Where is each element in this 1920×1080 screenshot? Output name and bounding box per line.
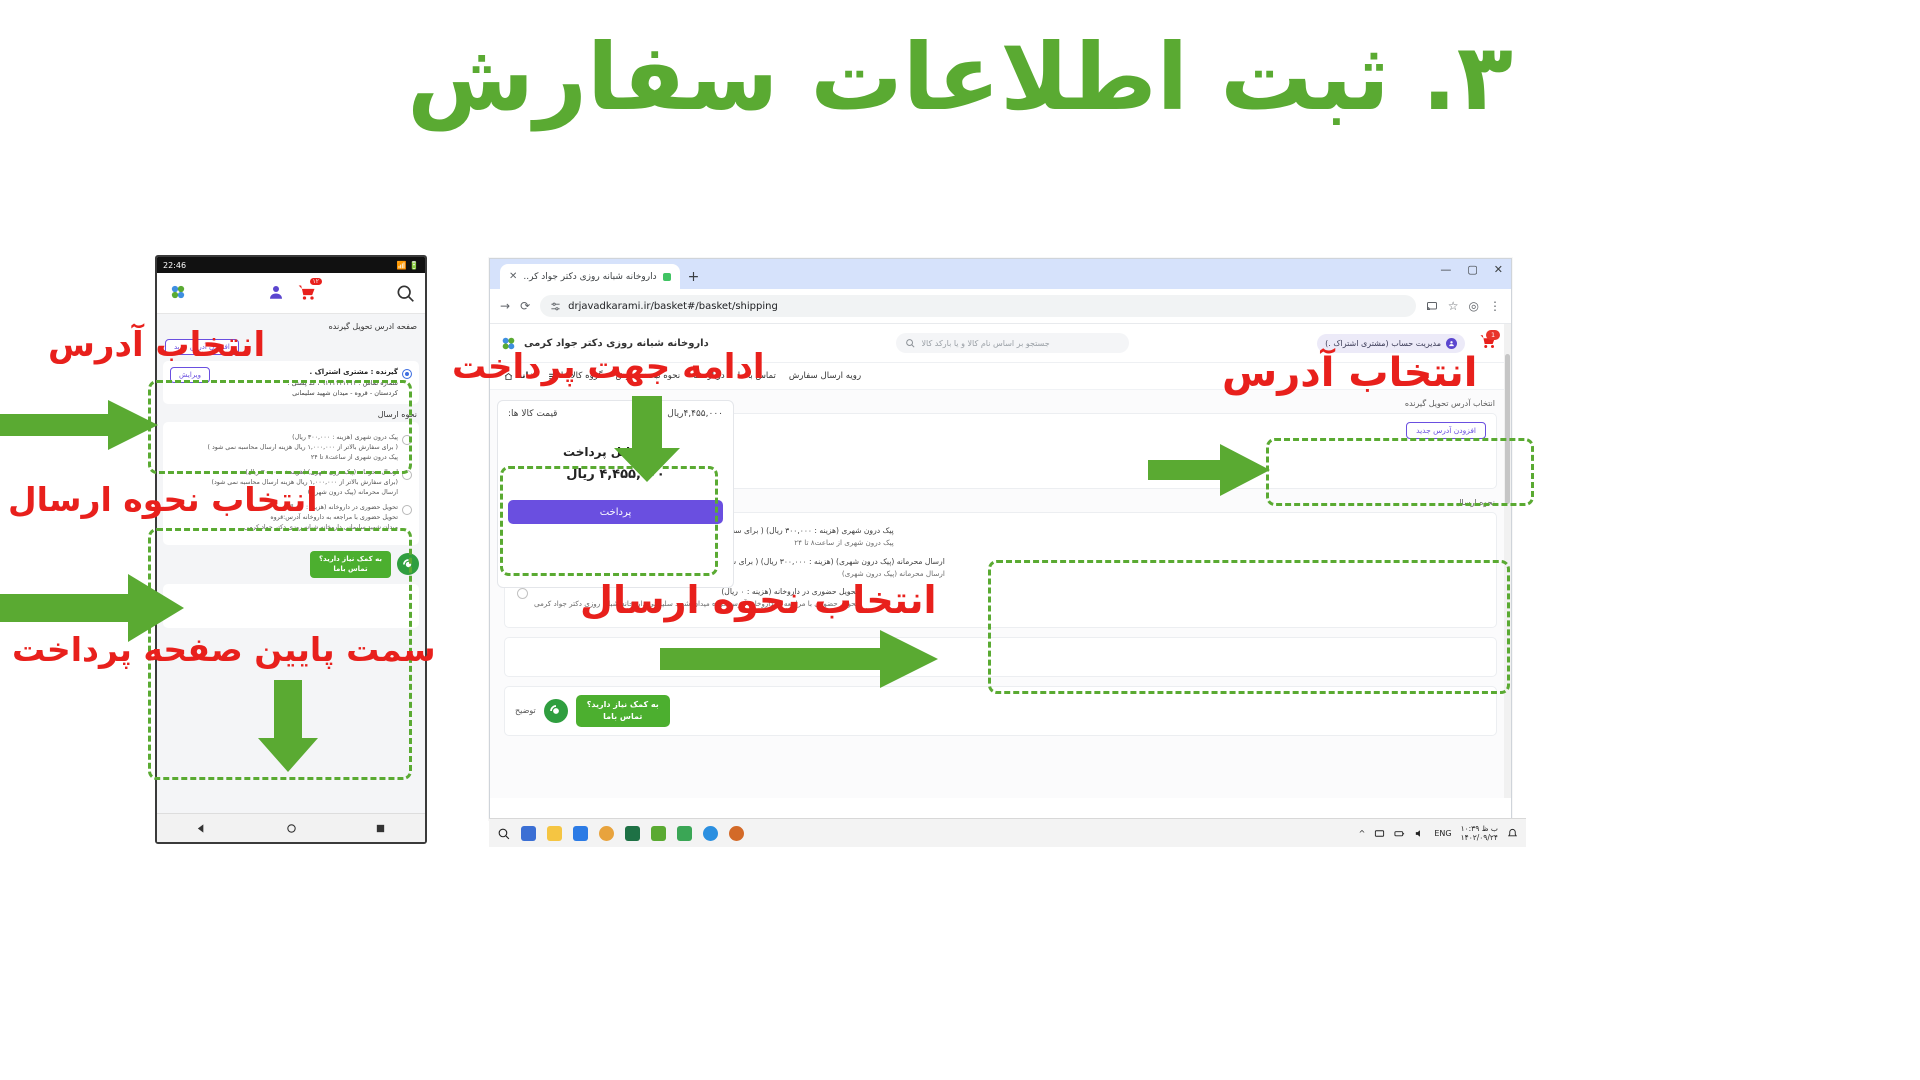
user-icon: [1446, 338, 1457, 349]
phone-cart-badge: ۱۲: [310, 278, 322, 285]
taskbar-search-icon[interactable]: [497, 827, 510, 840]
support-line1: به کمک نیاز دارید؟: [587, 700, 659, 709]
taskbar-tray: ^ ENG ۱۰:۳۹ ب ظ ۱۴۰۲/۰۹/۲۴: [1359, 824, 1518, 843]
phone-cart-icon[interactable]: ۱۲: [297, 283, 317, 303]
clock-time: ۱۰:۳۹ ب ظ: [1461, 824, 1498, 833]
address-bar[interactable]: drjavadkarami.ir/basket#/basket/shipping: [540, 295, 1416, 317]
notification-icon[interactable]: [1507, 828, 1518, 839]
phone-status-icons: 📶 🔋: [397, 261, 419, 270]
phone-system-nav: [157, 813, 425, 842]
clock-date: ۱۴۰۲/۰۹/۲۴: [1461, 833, 1498, 842]
support-bubble[interactable]: به کمک نیاز دارید؟ تماس باما: [576, 695, 670, 727]
phone-address-radio[interactable]: [402, 369, 412, 379]
phone-account-icon[interactable]: [265, 283, 285, 303]
forward-icon[interactable]: →: [500, 299, 510, 313]
taskbar-app-sheets-icon[interactable]: [677, 826, 692, 841]
browser-tab-strip: داروخانه شبانه روزی دکتر جواد کر.. ✕ + —…: [490, 259, 1511, 289]
cart-badge: 1: [1486, 330, 1500, 340]
highlight-box-desktop-shipping: [988, 560, 1510, 694]
phone-clock: 22:46: [163, 261, 186, 270]
taskbar-app-edge-icon[interactable]: [521, 826, 536, 841]
new-tab-button[interactable]: +: [688, 269, 700, 285]
annotation-desktop-address: انتخاب آدرس: [1222, 350, 1478, 396]
search-icon[interactable]: [905, 338, 915, 348]
maximize-button[interactable]: ▢: [1467, 263, 1477, 276]
taskbar-app-explorer-icon[interactable]: [547, 826, 562, 841]
tray-volume-icon[interactable]: [1414, 828, 1425, 839]
nav-item-shipping-policy[interactable]: رویه ارسال سفارش: [789, 371, 861, 381]
highlight-box-desktop-address: [1266, 438, 1534, 506]
taskbar-clock[interactable]: ۱۰:۳۹ ب ظ ۱۴۰۲/۰۹/۲۴: [1461, 824, 1498, 843]
phone-logo-icon: [167, 283, 187, 303]
tray-expand-icon[interactable]: ^: [1359, 829, 1366, 838]
phone-shipping-radio[interactable]: [402, 505, 412, 515]
phone-option-sub2: ارسال محرمانه (پیک درون شهری): [308, 489, 398, 496]
close-window-button[interactable]: ✕: [1494, 263, 1503, 276]
windows-taskbar: ^ ENG ۱۰:۳۹ ب ظ ۱۴۰۲/۰۹/۲۴: [489, 818, 1526, 847]
account-label: مدیریت حساب (مشتری اشتراک .): [1325, 339, 1441, 348]
tray-battery-icon[interactable]: [1394, 828, 1405, 839]
support-icon[interactable]: [544, 699, 568, 723]
arrow-phone-address: [0, 398, 160, 452]
taskbar-app-active-icon[interactable]: [729, 826, 744, 841]
taskbar-app-green-icon[interactable]: [651, 826, 666, 841]
taskbar-apps: [497, 826, 744, 841]
phone-app-bar: ۱۲: [157, 273, 425, 314]
highlight-box-phone-address: [148, 380, 412, 474]
circle-icon[interactable]: [286, 823, 297, 834]
arrow-desktop-shipping: [660, 628, 940, 690]
cart-button[interactable]: 1: [1475, 333, 1497, 353]
tray-language[interactable]: ENG: [1434, 829, 1451, 838]
phone-recipient-title: گیرنده : مشتری اشتراک .: [310, 368, 398, 376]
phone-status-bar: 22:46 📶 🔋: [157, 257, 425, 273]
bookmark-star-icon[interactable]: ☆: [1448, 299, 1459, 313]
taskbar-app-excel-icon[interactable]: [625, 826, 640, 841]
cast-icon[interactable]: [1426, 300, 1438, 312]
shipping-radio[interactable]: [517, 588, 528, 599]
window-controls: — ▢ ✕: [1440, 263, 1503, 276]
reload-icon[interactable]: ⟳: [520, 299, 530, 313]
taskbar-app-telegram-icon[interactable]: [573, 826, 588, 841]
site-settings-icon[interactable]: [550, 301, 561, 312]
tray-network-icon[interactable]: [1374, 828, 1385, 839]
search-input[interactable]: جستجو بر اساس نام کالا و یا بارکد کالا: [896, 333, 1129, 353]
slide-title: ۳. ثبت اطلاعات سفارش: [0, 20, 1920, 135]
annotation-desktop-shipping: انتخاب نحوه ارسال: [580, 578, 937, 622]
price-label: قیمت کالا ها:: [508, 409, 557, 419]
browser-tab[interactable]: داروخانه شبانه روزی دکتر جواد کر.. ✕: [500, 264, 680, 289]
url-text: drjavadkarami.ir/basket#/basket/shipping: [568, 301, 778, 312]
search-placeholder: جستجو بر اساس نام کالا و یا بارکد کالا: [921, 339, 1049, 348]
support-label: توضیح: [515, 706, 536, 715]
arrow-desktop-payment: [614, 396, 686, 484]
tab-close-icon[interactable]: ✕: [509, 271, 517, 282]
annotation-phone-address: انتخاب آدرس: [48, 325, 265, 365]
taskbar-app-blue-icon[interactable]: [703, 826, 718, 841]
tab-favicon-icon: [663, 273, 671, 281]
square-icon[interactable]: [375, 823, 386, 834]
arrow-phone-bottom: [258, 680, 322, 774]
annotation-desktop-continue: ادامه جهت پرداخت: [452, 347, 765, 387]
tab-title: داروخانه شبانه روزی دکتر جواد کر..: [523, 272, 656, 282]
minimize-button[interactable]: —: [1440, 263, 1451, 276]
annotation-phone-shipping: انتخاب نحوه ارسال: [8, 480, 318, 519]
browser-menu-icon[interactable]: ⋮: [1489, 299, 1501, 313]
search-icon[interactable]: [395, 283, 415, 303]
arrow-desktop-address: [1148, 442, 1272, 498]
browser-toolbar: → ⟳ drjavadkarami.ir/basket#/basket/ship…: [490, 289, 1511, 324]
back-triangle-icon[interactable]: [196, 823, 207, 834]
taskbar-app-chrome-icon[interactable]: [599, 826, 614, 841]
support-line2: تماس باما: [603, 712, 642, 721]
profile-icon[interactable]: ◎: [1469, 299, 1479, 313]
annotation-phone-bottom: سمت پایین صفحه پرداخت: [12, 630, 436, 669]
